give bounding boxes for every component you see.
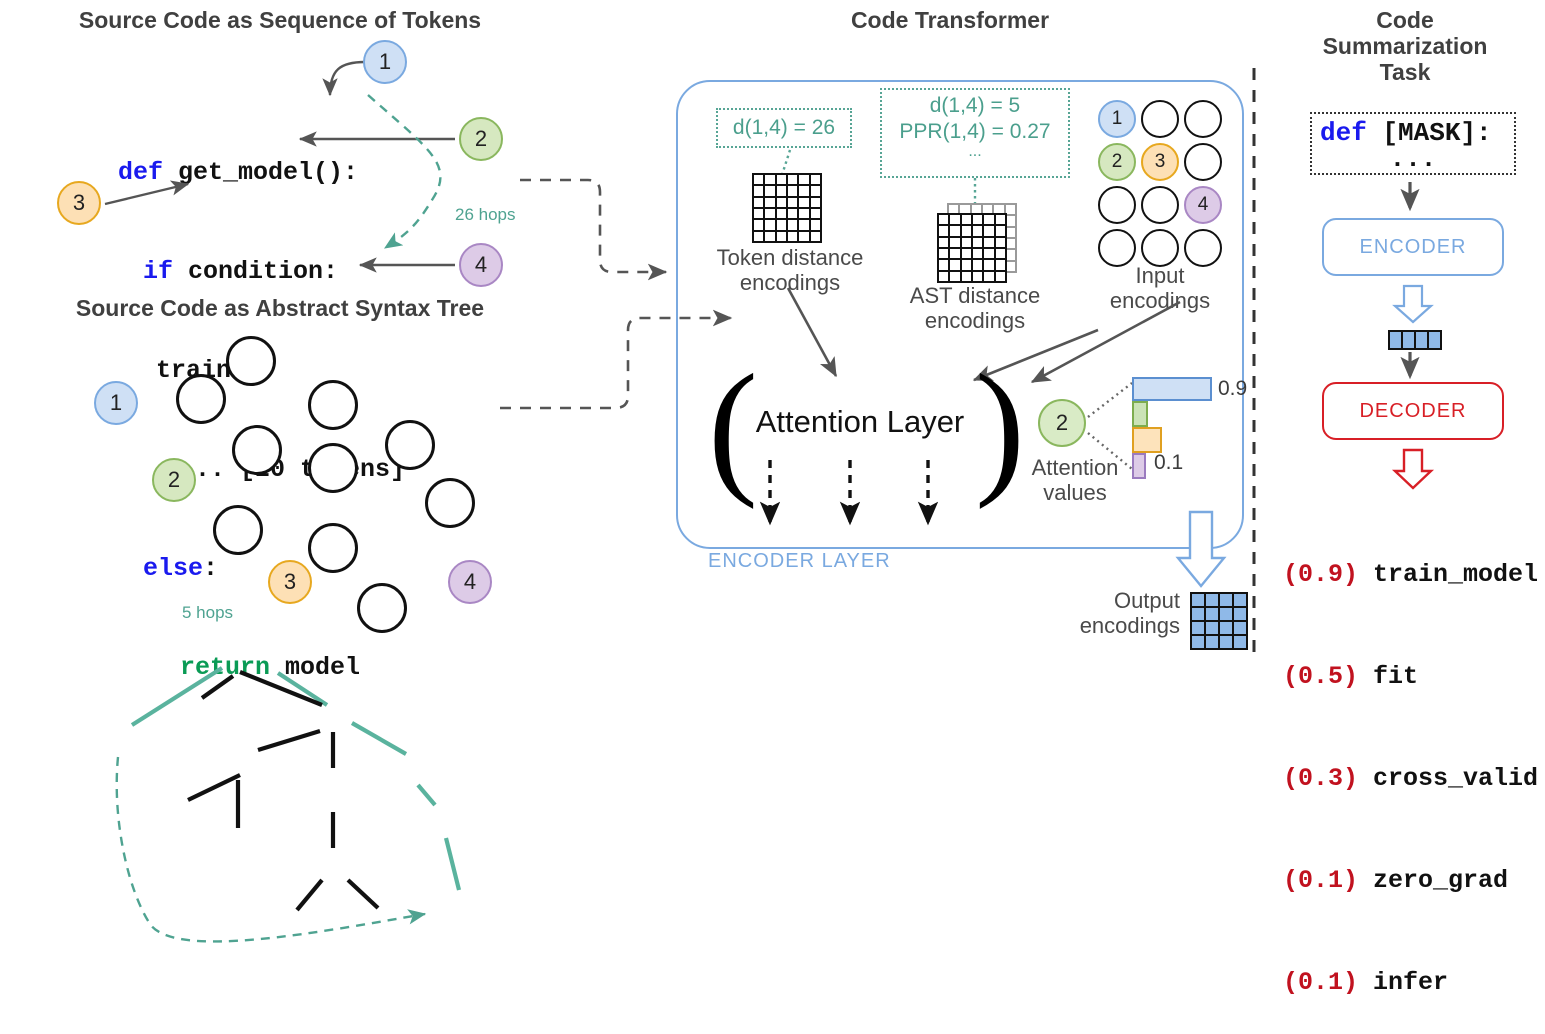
input-node-2: 2 — [1098, 143, 1136, 181]
attention-bar-1-value: 0.9 — [1218, 377, 1247, 401]
encoder-to-embedding-arrow — [1395, 286, 1431, 324]
prediction-row: (0.1) zero_grad — [1283, 864, 1538, 898]
prediction-prob: (0.5) — [1283, 662, 1358, 691]
ast-node-3: 3 — [268, 560, 312, 604]
input-node-empty-6 — [1098, 229, 1136, 267]
token-distance-grid — [752, 173, 822, 243]
input-node-empty-1 — [1141, 100, 1179, 138]
ast-node-b — [308, 380, 358, 430]
prediction-row: (0.1) infer — [1283, 966, 1538, 1000]
center-panel-title: Code Transformer — [660, 8, 1240, 34]
prediction-gap — [1358, 662, 1373, 691]
ast-node-4: 4 — [448, 560, 492, 604]
input-node-3: 3 — [1141, 143, 1179, 181]
input-node-empty-3 — [1184, 143, 1222, 181]
ast-node-h — [425, 478, 475, 528]
mask-to-encoder-arrow — [1402, 182, 1422, 218]
ast-node-a — [176, 374, 226, 424]
decoder-box: DECODER — [1322, 382, 1504, 440]
attention-bar-3 — [1132, 427, 1162, 453]
prediction-label: zero_grad — [1373, 866, 1508, 895]
embedding-vector — [1388, 330, 1442, 350]
ast-node-g — [308, 523, 358, 573]
output-hollow-arrow — [1178, 512, 1224, 590]
right-panel-title: Code Summarization Task — [1290, 8, 1520, 85]
prediction-row: (0.9) train_model — [1283, 558, 1538, 592]
panel-divider — [1252, 68, 1256, 653]
attention-bar-chart: 0.9 0.1 — [1132, 377, 1262, 479]
attention-node-2: 2 — [1038, 399, 1086, 447]
token-node-4: 4 — [459, 243, 503, 287]
left-bottom-panel-title: Source Code as Abstract Syntax Tree — [20, 296, 540, 322]
prediction-label: cross_valid — [1373, 764, 1538, 793]
ast-node-f — [213, 505, 263, 555]
input-node-4: 4 — [1184, 186, 1222, 224]
ast-hops-label: 5 hops — [182, 603, 233, 623]
prediction-list: (0.9) train_model (0.5) fit (0.3) cross_… — [1283, 490, 1538, 1034]
prediction-gap — [1358, 968, 1373, 997]
prediction-prob: (0.3) — [1283, 764, 1358, 793]
ast-node-2: 2 — [152, 458, 196, 502]
encoder-box: ENCODER — [1322, 218, 1504, 276]
embedding-to-decoder-arrow — [1402, 352, 1422, 386]
prediction-row: (0.5) fit — [1283, 660, 1538, 694]
ast-node-1: 1 — [94, 381, 138, 425]
ast-node-root — [226, 336, 276, 386]
masked-keyword-def: def — [1320, 118, 1367, 148]
token-node-3: 3 — [57, 181, 101, 225]
prediction-prob: (0.1) — [1283, 866, 1358, 895]
prediction-gap — [1358, 866, 1373, 895]
prediction-prob: (0.1) — [1283, 968, 1358, 997]
decoder-to-output-arrow — [1395, 450, 1431, 490]
attention-layer-label: Attention Layer — [745, 404, 975, 440]
attention-bar-1 — [1132, 377, 1212, 401]
ast-node-i — [357, 583, 407, 633]
output-encodings-grid — [1190, 592, 1248, 650]
prediction-label: infer — [1373, 968, 1448, 997]
ast-distance-grid-front — [937, 213, 1007, 283]
ast-tree-graph — [0, 320, 560, 667]
input-encodings-grid: 1 2 3 4 — [1098, 100, 1222, 264]
prediction-prob: (0.9) — [1283, 560, 1358, 589]
input-node-empty-2 — [1184, 100, 1222, 138]
token-node-1: 1 — [363, 40, 407, 84]
ast-node-c — [232, 425, 282, 475]
prediction-name — [1358, 560, 1373, 589]
prediction-row: (0.3) cross_valid — [1283, 762, 1538, 796]
prediction-label: train_model — [1373, 560, 1538, 589]
attention-values-label: Attention values — [1000, 455, 1150, 505]
prediction-label: fit — [1373, 662, 1418, 691]
output-encodings-label: Output encodings — [1055, 588, 1180, 638]
masked-code-box: def [MASK]: ... — [1310, 112, 1516, 175]
input-node-1: 1 — [1098, 100, 1136, 138]
ast-node-e — [308, 443, 358, 493]
input-node-empty-7 — [1141, 229, 1179, 267]
attention-bar-4-value: 0.1 — [1154, 451, 1183, 475]
attention-bar-2 — [1132, 401, 1148, 427]
prediction-gap — [1358, 764, 1373, 793]
ast-node-d — [385, 420, 435, 470]
token-node-2: 2 — [459, 117, 503, 161]
masked-code-line-2: ... — [1320, 148, 1506, 170]
input-node-empty-8 — [1184, 229, 1222, 267]
input-node-empty-4 — [1098, 186, 1136, 224]
input-node-empty-5 — [1141, 186, 1179, 224]
